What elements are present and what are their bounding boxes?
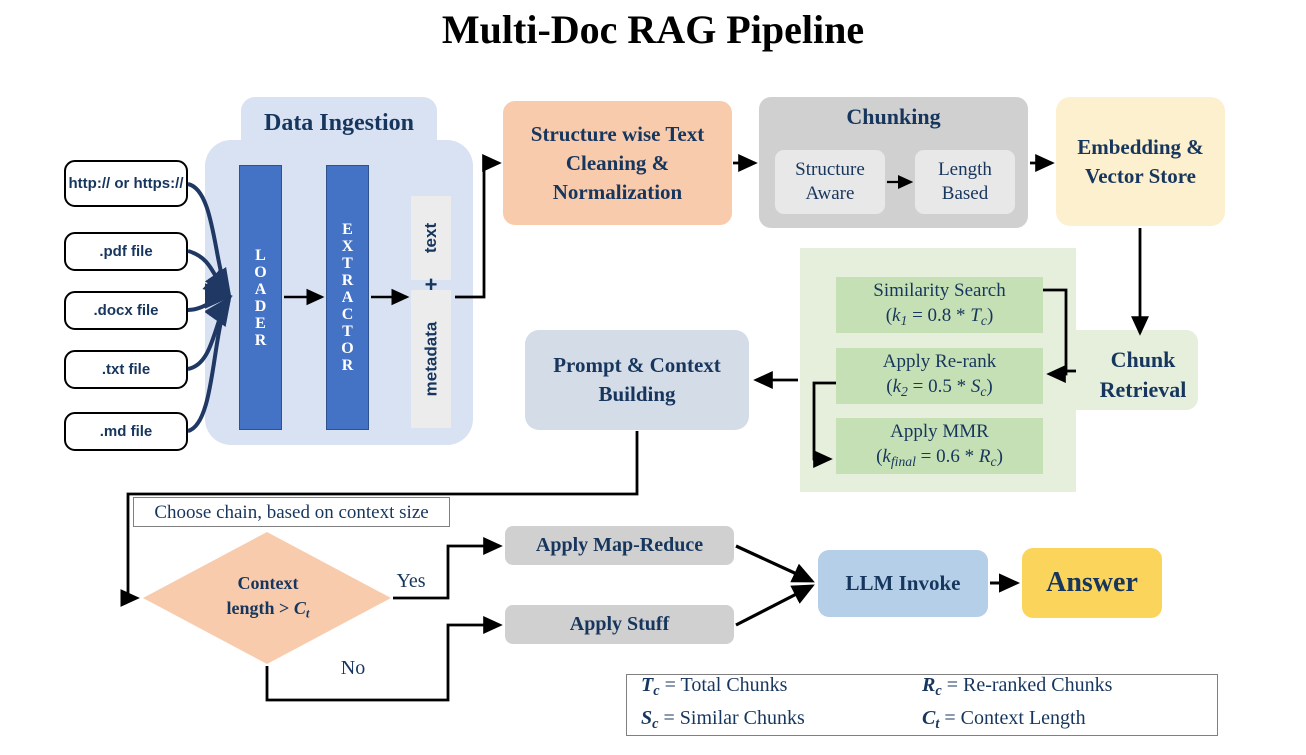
diagram-canvas: Multi-Doc RAG Pipeline Data Ingestion LO…: [0, 0, 1306, 755]
connector-layer: [0, 0, 1306, 755]
